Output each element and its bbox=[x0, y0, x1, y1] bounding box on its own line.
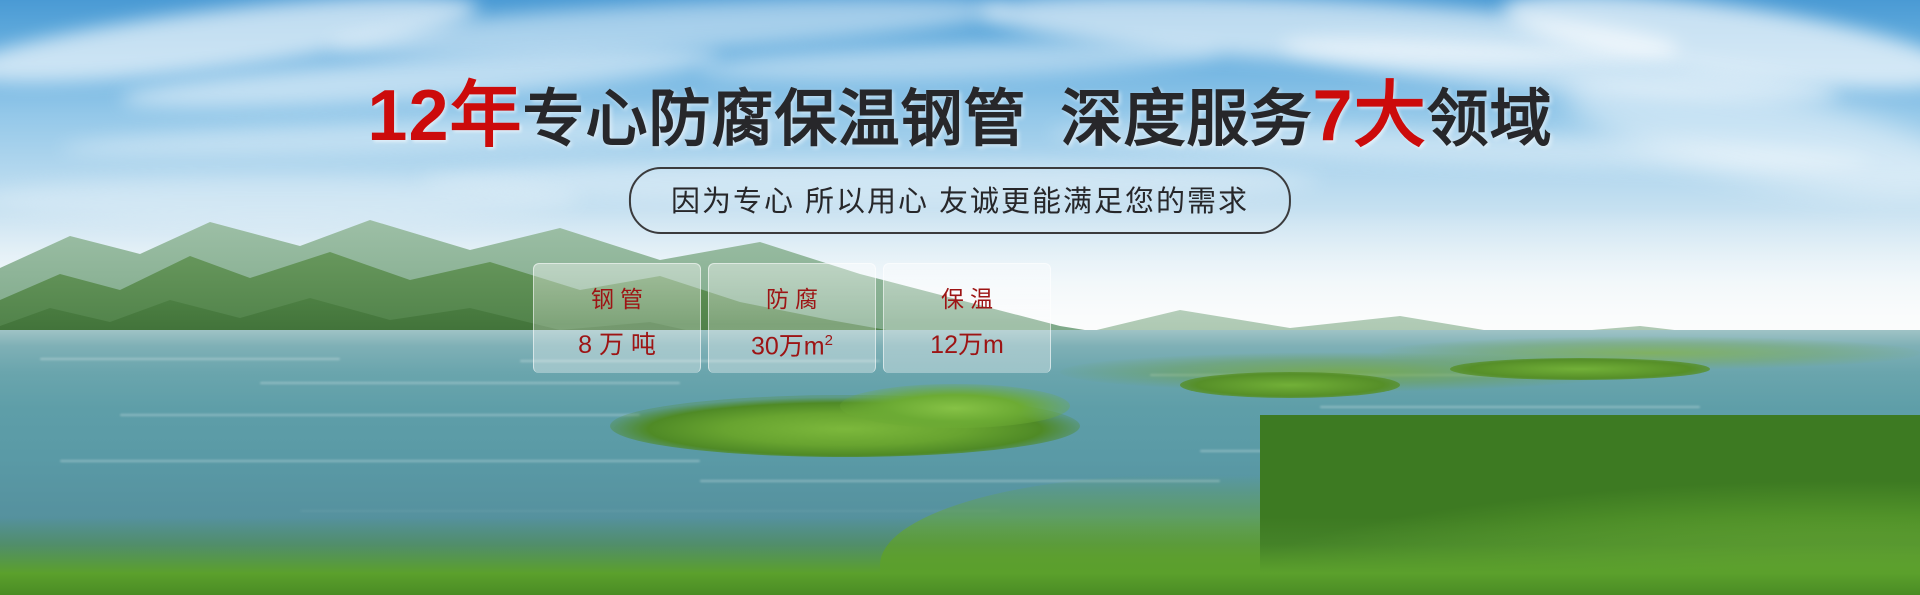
stat-card-value-main: 12万m bbox=[930, 331, 1004, 359]
stat-card-pipe[interactable]: 钢管 8 万 吨 bbox=[533, 263, 701, 373]
stat-card-value-main: 30万m bbox=[751, 332, 825, 360]
banner-subtitle-text: 因为专心 所以用心 友诚更能满足您的需求 bbox=[671, 186, 1249, 218]
stat-card-anticorrosion[interactable]: 防腐 30万m2 bbox=[708, 263, 876, 373]
headline-seven: 7大 bbox=[1313, 76, 1427, 156]
stat-card-value: 8 万 吨 bbox=[578, 333, 656, 358]
stat-card-value-superscript: 2 bbox=[825, 332, 833, 349]
stat-card-label: 钢管 bbox=[585, 288, 649, 311]
headline-service: 深度服务 bbox=[1061, 85, 1313, 154]
headline-years: 12年 bbox=[367, 76, 522, 156]
stat-card-value-main: 8 万 吨 bbox=[578, 331, 656, 359]
stat-card-insulation[interactable]: 保温 12万m bbox=[883, 263, 1051, 373]
stat-card-value: 12万m bbox=[930, 333, 1004, 358]
stat-card-label: 防腐 bbox=[760, 288, 824, 311]
banner-content: 12年专心防腐保温钢管深度服务7大领域 因为专心 所以用心 友诚更能满足您的需求… bbox=[0, 0, 1920, 595]
hero-banner: 12年专心防腐保温钢管深度服务7大领域 因为专心 所以用心 友诚更能满足您的需求… bbox=[0, 0, 1920, 595]
stat-cards: 钢管 8 万 吨 防腐 30万m2 保温 12万m bbox=[533, 263, 1051, 373]
headline-fields: 领域 bbox=[1427, 85, 1553, 154]
stat-card-value: 30万m2 bbox=[751, 333, 833, 359]
stat-card-label: 保温 bbox=[935, 288, 999, 311]
banner-headline: 12年专心防腐保温钢管深度服务7大领域 bbox=[0, 80, 1920, 152]
headline-main: 专心防腐保温钢管 bbox=[523, 85, 1027, 154]
banner-subtitle-pill: 因为专心 所以用心 友诚更能满足您的需求 bbox=[629, 167, 1291, 234]
